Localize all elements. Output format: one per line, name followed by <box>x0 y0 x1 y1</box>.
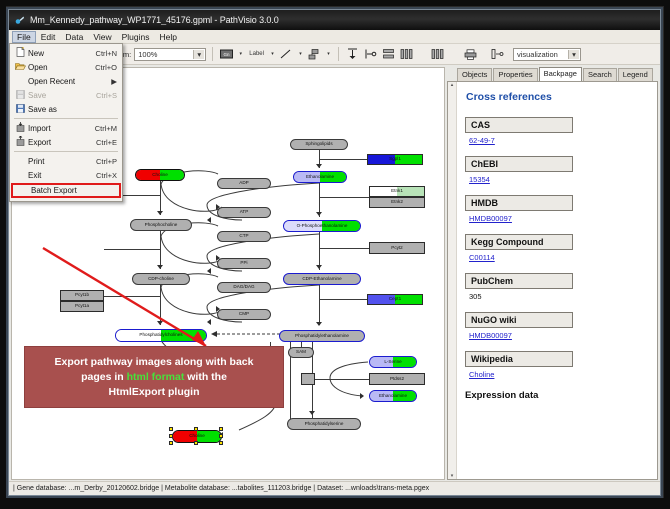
menu-item-label: Exit <box>28 171 96 180</box>
node-phosphatidylserine[interactable]: Phosphatidylserine <box>287 418 361 430</box>
menu-item-label: Save as <box>28 105 117 114</box>
selection-handle[interactable] <box>194 427 198 431</box>
selection-handle[interactable] <box>169 434 173 438</box>
node-label: Choline <box>152 173 168 178</box>
menu-item-shortcut: Ctrl+X <box>96 171 119 180</box>
xref-value-hmdb: HMDB00097 <box>469 214 647 223</box>
xref-db-cas: CAS <box>465 117 573 133</box>
loop-serine-ethanolamine <box>322 356 374 401</box>
node-cdp-ethanolamine[interactable]: CDP-Ethanolamine <box>283 273 361 285</box>
menu-item-batch-export[interactable]: Batch Export <box>11 183 121 198</box>
print-icon[interactable] <box>463 47 478 62</box>
visualization-value: visualization <box>517 50 558 59</box>
interaction-tool-icon[interactable] <box>307 47 322 62</box>
node-label: CTP <box>239 234 248 239</box>
selection-handle[interactable] <box>169 441 173 445</box>
callout-line2-a: pages in <box>81 371 127 383</box>
menu-edit[interactable]: Edit <box>36 31 61 43</box>
xref-db-hmdb: HMDB <box>465 195 573 211</box>
node-adp[interactable]: ADP <box>217 178 271 189</box>
menu-item-shortcut: Ctrl+M <box>95 124 119 133</box>
annotation-callout: Export pathway images along with back pa… <box>24 346 284 408</box>
menu-item-label: Import <box>28 124 95 133</box>
toolbar-divider <box>212 47 213 61</box>
chevron-down-icon: ▾ <box>193 50 204 59</box>
node-label: Ethanolamine <box>306 175 334 180</box>
menu-file[interactable]: File <box>12 31 36 43</box>
selection-handle[interactable] <box>219 427 223 431</box>
xref-value-chebi: 15354 <box>469 175 647 184</box>
selection-handle[interactable] <box>219 434 223 438</box>
edge-sgpl1-link <box>319 159 368 160</box>
node-gene-etnk2[interactable]: Etnk2 <box>369 197 425 208</box>
menu-item-import[interactable]: Import Ctrl+M <box>10 121 122 135</box>
side-panel-tabs: Objects Properties Backpage Search Legen… <box>447 67 658 81</box>
tab-properties[interactable]: Properties <box>493 68 537 81</box>
menu-item-export[interactable]: Export Ctrl+E <box>10 135 122 149</box>
node-label: Ethanolamine <box>379 394 407 399</box>
menu-item-shortcut: Ctrl+S <box>96 91 119 100</box>
selection-handle[interactable] <box>219 441 223 445</box>
toolbar-divider-2 <box>338 47 339 61</box>
node-label: Sphingolipids <box>305 142 332 147</box>
zoom-value: 100% <box>138 50 157 59</box>
menu-item-save-as[interactable]: Save as <box>10 102 122 116</box>
side-panel: Objects Properties Backpage Search Legen… <box>447 67 658 480</box>
menu-help[interactable]: Help <box>155 31 182 43</box>
node-dag[interactable]: DAG/DAG <box>217 282 271 293</box>
import-icon <box>13 122 28 134</box>
node-atp[interactable]: ATP <box>217 207 271 218</box>
chevron-down-icon-2: ▾ <box>568 50 579 59</box>
menu-item-label: Save <box>28 91 96 100</box>
node-gene-cept1[interactable]: Cept1 <box>367 294 423 305</box>
node-label: SAM <box>296 350 306 355</box>
node-gene-ptdss2[interactable]: Ptdss2 <box>369 373 425 385</box>
edge-etnk-link <box>319 197 369 198</box>
submenu-arrow-icon: ▶ <box>111 77 119 86</box>
node-sphingolipids[interactable]: Sphingolipids <box>290 139 348 150</box>
backpage-content: Cross references CAS 62-49-7 ChEBI 15354… <box>457 82 657 479</box>
node-ppi[interactable]: PPi <box>217 258 271 269</box>
svg-text:Gn: Gn <box>224 52 231 57</box>
menu-item-label: Export <box>28 138 96 147</box>
node-gene-etnk1[interactable]: Etnk1 <box>369 186 425 197</box>
arrowhead-13 <box>360 393 364 399</box>
menu-item-shortcut: Ctrl+P <box>96 157 119 166</box>
xref-db-kegg: Kegg Compound <box>465 234 573 250</box>
expression-data-heading: Expression data <box>465 390 647 401</box>
node-ethanolamine-2[interactable]: Ethanolamine <box>369 390 417 402</box>
node-label: PPi <box>240 261 247 266</box>
xref-value-wikipedia: Choline <box>469 370 647 379</box>
menu-item-label: Open <box>28 63 95 72</box>
xref-value-pubchem: 305 <box>469 292 647 301</box>
datanode-tool-icon[interactable]: Gn <box>219 47 234 62</box>
xref-db-nugo: NuGO wiki <box>465 312 573 328</box>
menu-item-label: Open Recent <box>28 77 111 86</box>
save-icon <box>13 90 28 101</box>
distribute-vertical-icon[interactable] <box>430 47 445 62</box>
xref-value-nugo: HMDB00097 <box>469 331 647 340</box>
node-label: Choline <box>189 434 205 439</box>
arrowhead-11 <box>309 411 315 415</box>
label-dropdown-icon[interactable]: ▾ <box>269 51 276 57</box>
save-as-icon <box>13 104 28 115</box>
label-tool-button[interactable]: Label <box>247 47 266 62</box>
datanode-dropdown-icon[interactable]: ▾ <box>237 51 244 57</box>
selection-handle[interactable] <box>169 427 173 431</box>
align-top-icon[interactable] <box>345 47 360 62</box>
node-l-serine[interactable]: L-Serine <box>369 356 417 368</box>
xref-db-chebi: ChEBI <box>465 156 573 172</box>
menu-item-open-recent[interactable]: Open Recent ▶ <box>10 74 122 88</box>
node-phosphocholine[interactable]: Phosphocholine <box>130 219 192 231</box>
menu-bar: File Edit Data View Plugins Help <box>9 30 660 44</box>
scroll-down-icon[interactable]: ▾ <box>451 473 454 479</box>
set-width-icon[interactable] <box>490 47 505 62</box>
menu-item-print[interactable]: Print Ctrl+P <box>10 154 122 168</box>
xref-link-kegg[interactable]: C00114 <box>469 253 495 262</box>
xref-link-nugo[interactable]: HMDB00097 <box>469 331 512 340</box>
tab-backpage[interactable]: Backpage <box>539 67 582 81</box>
node-label: Pcyt2 <box>391 246 403 251</box>
node-label: ATP <box>240 210 249 215</box>
node-label: DAG/DAG <box>233 285 254 290</box>
node-label: ADP <box>239 181 248 186</box>
file-menu-dropdown: New Ctrl+N Open Ctrl+O Open Recent ▶ Sav… <box>9 43 123 202</box>
callout-line2-b: with the <box>184 371 227 383</box>
cross-references-heading: Cross references <box>466 91 647 103</box>
selection-handle[interactable] <box>194 441 198 445</box>
node-gene-sgpl1[interactable]: Sgpl1 <box>367 154 423 165</box>
menu-plugins[interactable]: Plugins <box>117 31 155 43</box>
node-label: Phosphocholine <box>145 223 178 228</box>
menu-item-open[interactable]: Open Ctrl+O <box>10 60 122 74</box>
anchor-box <box>301 373 315 385</box>
xref-link-cas[interactable]: 62-49-7 <box>469 136 495 145</box>
menu-item-save: Save Ctrl+S <box>10 88 122 102</box>
edge-pcyt2-link <box>319 248 369 249</box>
menu-view[interactable]: View <box>88 31 116 43</box>
node-label: L-Serine <box>384 360 401 365</box>
node-label: Phosphatidylserine <box>305 422 344 427</box>
menu-item-label: New <box>28 49 96 58</box>
visualization-combo[interactable]: visualization ▾ <box>513 48 581 61</box>
edge-cept1-link <box>319 299 367 300</box>
xref-link-chebi[interactable]: 15354 <box>469 175 490 184</box>
node-label: O-Phosphoethanolamine <box>297 224 348 229</box>
line-dropdown-icon[interactable]: ▾ <box>297 51 304 57</box>
node-choline-top[interactable]: Choline <box>135 169 185 181</box>
arrowhead-4 <box>316 164 322 168</box>
menu-item-shortcut: Ctrl+O <box>95 63 119 72</box>
menu-separator-2 <box>14 151 118 152</box>
callout-highlight: html format <box>127 371 185 383</box>
title-bar: Mm_Kennedy_pathway_WP1771_45176.gpml - P… <box>9 10 660 30</box>
menu-data[interactable]: Data <box>60 31 88 43</box>
screenshot-root: Mm_Kennedy_pathway_WP1771_45176.gpml - P… <box>0 0 670 509</box>
xref-value-cas: 62-49-7 <box>469 136 647 145</box>
tab-legend[interactable]: Legend <box>618 68 653 81</box>
window-title: Mm_Kennedy_pathway_WP1771_45176.gpml - P… <box>30 15 279 25</box>
export-icon <box>13 136 28 148</box>
status-bar-text: | Gene database: ...m_Derby_20120602.bri… <box>13 485 429 492</box>
menu-item-label: Batch Export <box>31 186 114 195</box>
menu-separator <box>14 118 118 119</box>
stack-vertical-icon[interactable] <box>381 47 396 62</box>
menu-item-label: Print <box>28 157 96 166</box>
new-file-icon <box>13 47 28 59</box>
menu-item-shortcut: Ctrl+E <box>96 138 119 147</box>
align-left-icon[interactable] <box>363 47 378 62</box>
arrowhead-8 <box>207 217 211 223</box>
node-label: Phosphatidylethanolamine <box>295 334 349 339</box>
node-o-phosphoethanolamine[interactable]: O-Phosphoethanolamine <box>283 220 361 232</box>
node-ctp[interactable]: CTP <box>217 231 271 242</box>
xref-link-hmdb[interactable]: HMDB00097 <box>469 214 512 223</box>
menu-item-new[interactable]: New Ctrl+N <box>10 46 122 60</box>
node-label: CDP-Ethanolamine <box>302 277 341 282</box>
backpage-scrollbar[interactable]: ▴ ▾ <box>448 82 457 479</box>
node-label: Etnk2 <box>391 200 403 205</box>
node-sam[interactable]: SAM <box>288 347 314 358</box>
xref-value-kegg: C00114 <box>469 253 647 262</box>
status-bar: | Gene database: ...m_Derby_20120602.bri… <box>9 481 660 495</box>
callout-line-3: HtmlExport plugin <box>109 385 200 400</box>
scroll-up-icon[interactable]: ▴ <box>451 82 454 88</box>
callout-line-1: Export pathway images along with back <box>55 355 254 370</box>
tab-search[interactable]: Search <box>583 68 617 81</box>
node-phosphatidylethanolamine[interactable]: Phosphatidylethanolamine <box>279 330 365 342</box>
node-gene-pcyt2[interactable]: Pcyt2 <box>369 242 425 254</box>
node-label: Etnk1 <box>391 189 403 194</box>
menu-item-shortcut: Ctrl+N <box>96 49 119 58</box>
node-ethanolamine[interactable]: Ethanolamine <box>293 171 347 183</box>
node-label: Cept1 <box>389 297 401 302</box>
node-label: CMP <box>239 312 249 317</box>
backpage-panel: ▴ ▾ Cross references CAS 62-49-7 ChEBI 1… <box>447 81 658 480</box>
node-label: Ptdss2 <box>390 377 404 382</box>
interaction-dropdown-icon[interactable]: ▾ <box>325 51 332 57</box>
node-label: Sgpl1 <box>389 157 401 162</box>
distribute-horizontal-icon[interactable] <box>399 47 414 62</box>
zoom-combo[interactable]: 100% ▾ <box>134 48 206 61</box>
xref-link-wikipedia[interactable]: Choline <box>469 370 494 379</box>
xref-db-pubchem: PubChem <box>465 273 573 289</box>
callout-line-2: pages in html format with the <box>81 370 227 385</box>
node-cmp[interactable]: CMP <box>217 309 271 320</box>
menu-item-exit[interactable]: Exit Ctrl+X <box>10 168 122 182</box>
line-tool-icon[interactable] <box>279 47 294 62</box>
pathvisio-app-icon <box>14 15 25 26</box>
annotation-arrow <box>40 246 222 356</box>
tab-objects[interactable]: Objects <box>457 68 492 81</box>
folder-open-icon <box>13 62 28 73</box>
xref-db-wikipedia: Wikipedia <box>465 351 573 367</box>
